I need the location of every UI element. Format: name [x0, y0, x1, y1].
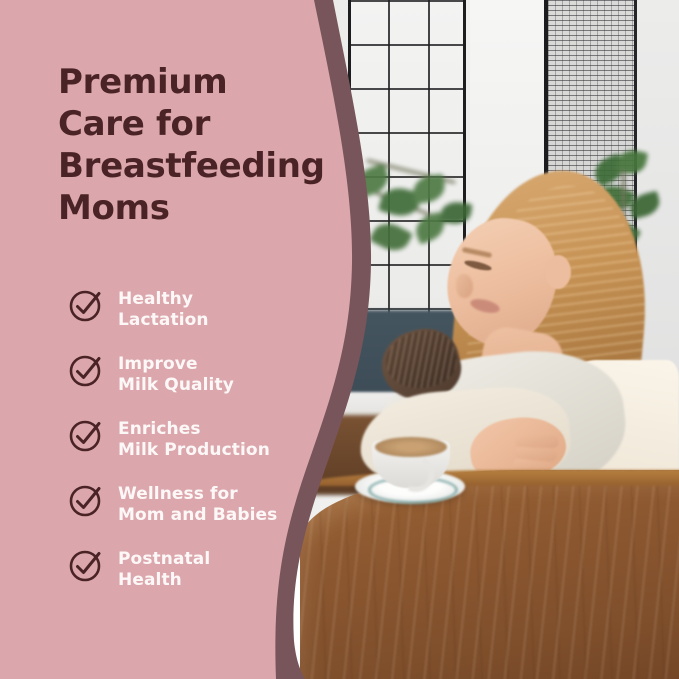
label-line-1: Wellness for [118, 484, 340, 505]
promotional-banner: Premium Care for Breastfeeding Moms Heal… [0, 0, 679, 679]
list-item: Improve Milk Quality [68, 352, 340, 417]
mother-ear [545, 255, 571, 289]
label-line-1: Healthy [118, 289, 340, 310]
list-item-label: Improve Milk Quality [118, 354, 340, 396]
list-item: Wellness for Mom and Babies [68, 482, 340, 547]
headline-line-4: Moms [58, 187, 340, 229]
label-line-2: Milk Production [118, 440, 340, 461]
circle-check-icon [68, 482, 104, 518]
mother-nose [456, 274, 473, 298]
headline-line-1: Premium [58, 61, 340, 103]
label-line-1: Enriches [118, 419, 340, 440]
benefits-list: Healthy Lactation Improve Milk Quality [68, 287, 340, 612]
circle-check-icon [68, 417, 104, 453]
list-item: Healthy Lactation [68, 287, 340, 352]
headline-line-2: Care for [58, 103, 340, 145]
headline-line-3: Breastfeeding [58, 145, 340, 187]
list-item: Enriches Milk Production [68, 417, 340, 482]
list-item-label: Postnatal Health [118, 549, 340, 591]
circle-check-icon [68, 287, 104, 323]
label-line-2: Mom and Babies [118, 505, 340, 526]
label-line-1: Improve [118, 354, 340, 375]
list-item-label: Enriches Milk Production [118, 419, 340, 461]
label-line-2: Milk Quality [118, 375, 340, 396]
list-item-label: Healthy Lactation [118, 289, 340, 331]
page-title: Premium Care for Breastfeeding Moms [58, 61, 340, 229]
label-line-1: Postnatal [118, 549, 340, 570]
label-line-2: Health [118, 570, 340, 591]
panel-content: Premium Care for Breastfeeding Moms Heal… [0, 0, 330, 679]
list-item: Postnatal Health [68, 547, 340, 612]
circle-check-icon [68, 352, 104, 388]
list-item-label: Wellness for Mom and Babies [118, 484, 340, 526]
circle-check-icon [68, 547, 104, 583]
label-line-2: Lactation [118, 310, 340, 331]
